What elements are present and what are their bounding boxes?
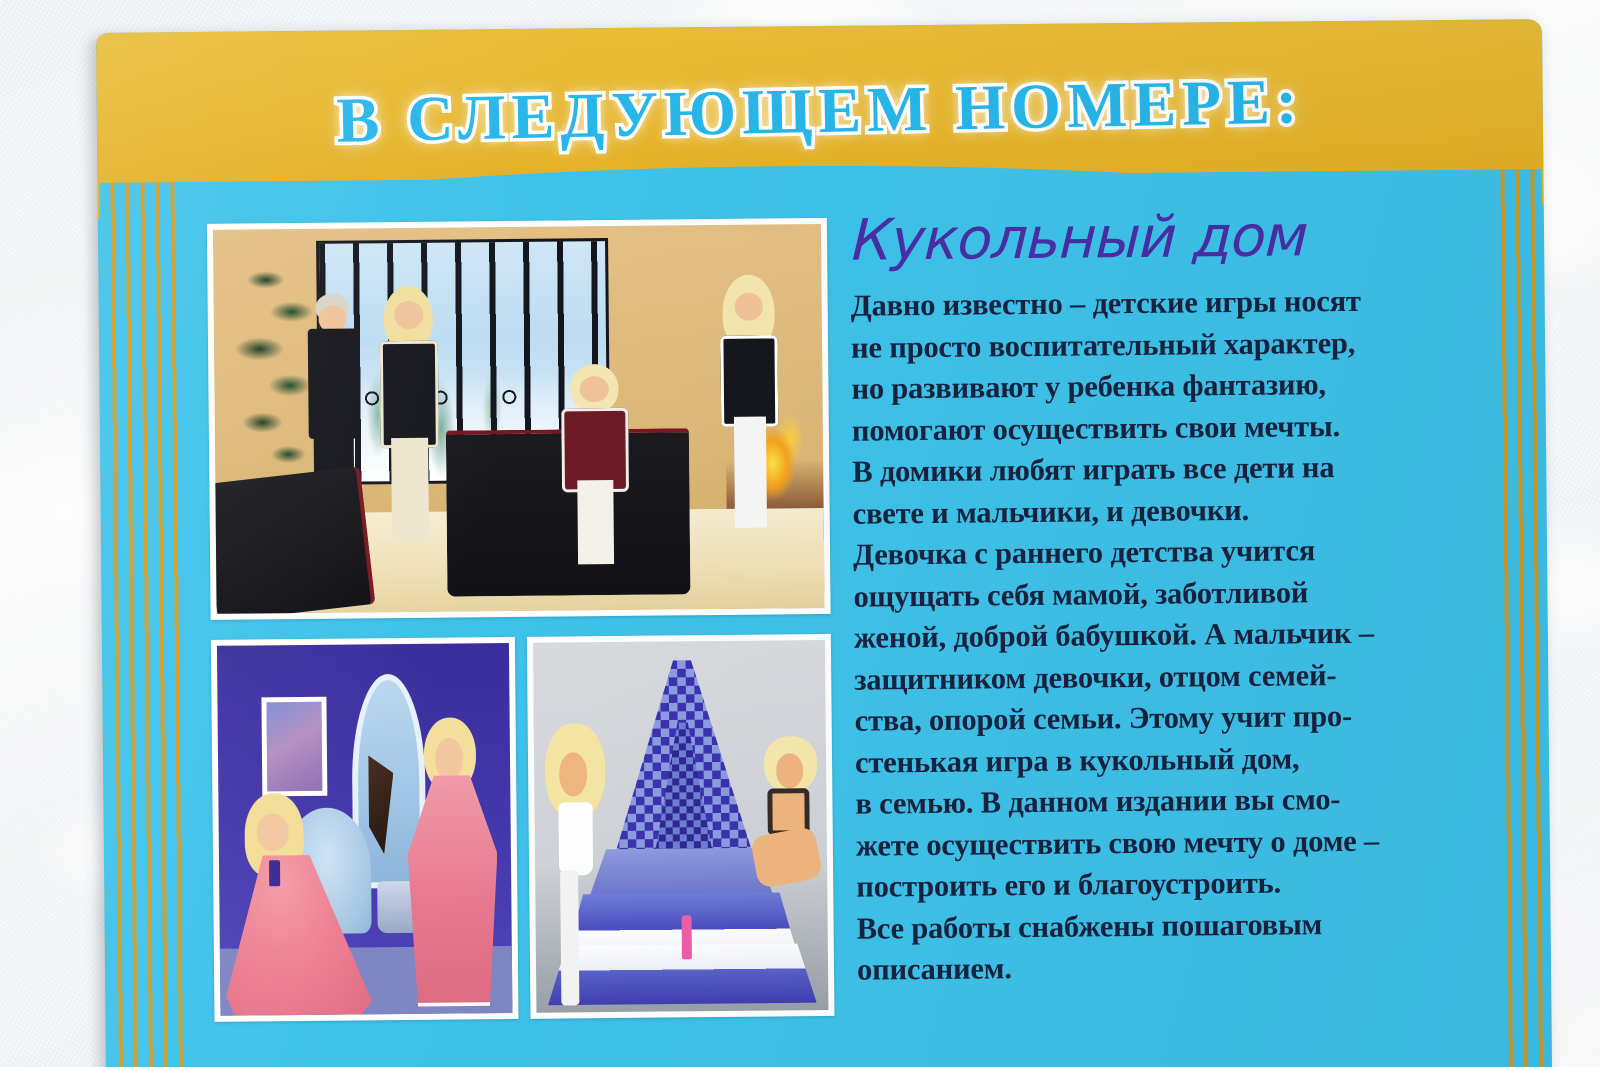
article-line: помогают осуществить свои мечты. <box>852 404 1474 451</box>
living-room-scene <box>213 224 825 614</box>
article-line: ощущать себя мамой, заботливой <box>853 570 1475 617</box>
doll-seated-pink-gown <box>224 792 372 1015</box>
photo-bathroom <box>527 634 835 1019</box>
banner-heading: В СЛЕДУЮЩЕМ НОМЕРЕ: <box>96 59 1543 162</box>
doll-legs <box>577 480 614 564</box>
doll-body <box>558 802 593 875</box>
doll-gown <box>225 854 373 1015</box>
article-line: свете и мальчики, и девочки. <box>852 487 1474 534</box>
right-pinstripe-border <box>1489 169 1550 1067</box>
doll-white-swimsuit <box>540 723 624 1005</box>
doll-woman-red-coat <box>561 364 630 564</box>
doll-legs <box>391 437 430 539</box>
article-line: Давно известно – детские игры носят <box>850 280 1472 327</box>
left-pinstripe-border <box>99 182 186 1067</box>
doll-head <box>394 301 423 329</box>
doll-head <box>735 292 763 320</box>
doll-black-swimsuit <box>750 736 828 951</box>
article-line: жете осуществить свою мечту о доме – <box>856 819 1478 866</box>
doll-head <box>435 738 463 782</box>
article-line: стенькая игра в кукольный дом, <box>855 736 1477 783</box>
article-line: но развивают у ребенка фантазию, <box>851 363 1473 410</box>
photo-bedroom <box>211 637 519 1022</box>
doll-gown <box>407 775 499 1007</box>
article-line: женой, доброй бабушкой. А мальчик – <box>854 612 1476 659</box>
doll-gown-bow <box>269 860 281 887</box>
doll-standing-pink-gown <box>405 717 501 1006</box>
article-line: защитником девочки, отцом семей- <box>854 653 1476 700</box>
doll-legs <box>750 825 824 888</box>
article-body: Давно известно – детские игры носят не п… <box>850 280 1479 991</box>
article-line: ства, опорой семьи. Этому учит про- <box>854 695 1476 742</box>
page-content: Кукольный дом Давно известно – детские и… <box>177 170 1498 1067</box>
screenshot-root: В СЛЕДУЮЩЕМ НОМЕРЕ: <box>0 0 1600 1067</box>
framed-wall-picture <box>261 697 327 796</box>
photo-column <box>177 176 836 1067</box>
article-line: В домики любят играть все дети на <box>852 446 1474 493</box>
article-line: не просто воспитательный характер, <box>851 321 1473 368</box>
doll-head <box>256 813 288 851</box>
doll-woman-black-coat <box>378 285 441 539</box>
doll-legs <box>561 870 580 1005</box>
doll-legs <box>734 416 767 528</box>
photo-row <box>211 634 836 1022</box>
doll-body <box>379 341 438 448</box>
article-line: построить его и благоустроить. <box>856 861 1478 908</box>
doll-woman-braid <box>718 274 781 528</box>
magazine-page: В СЛЕДУЮЩЕМ НОМЕРЕ: <box>96 19 1552 1067</box>
doll-body <box>720 335 778 427</box>
article-column: Кукольный дом Давно известно – детские и… <box>827 170 1498 1067</box>
article-title: Кукольный дом <box>851 206 1473 270</box>
doll-body <box>307 328 358 439</box>
pink-bottle <box>682 915 693 959</box>
bathroom-scene <box>533 640 829 1013</box>
armchair <box>213 466 375 613</box>
photo-living-room <box>207 218 831 620</box>
article-line: Все работы снабжены пошаговым <box>856 902 1478 949</box>
article-line: описанием. <box>857 944 1479 991</box>
bedroom-scene <box>217 643 513 1016</box>
article-line: Девочка с раннего детства учится <box>853 529 1475 576</box>
doll-head <box>776 754 804 789</box>
article-line: в семью. В данном издании вы смо- <box>855 778 1477 825</box>
